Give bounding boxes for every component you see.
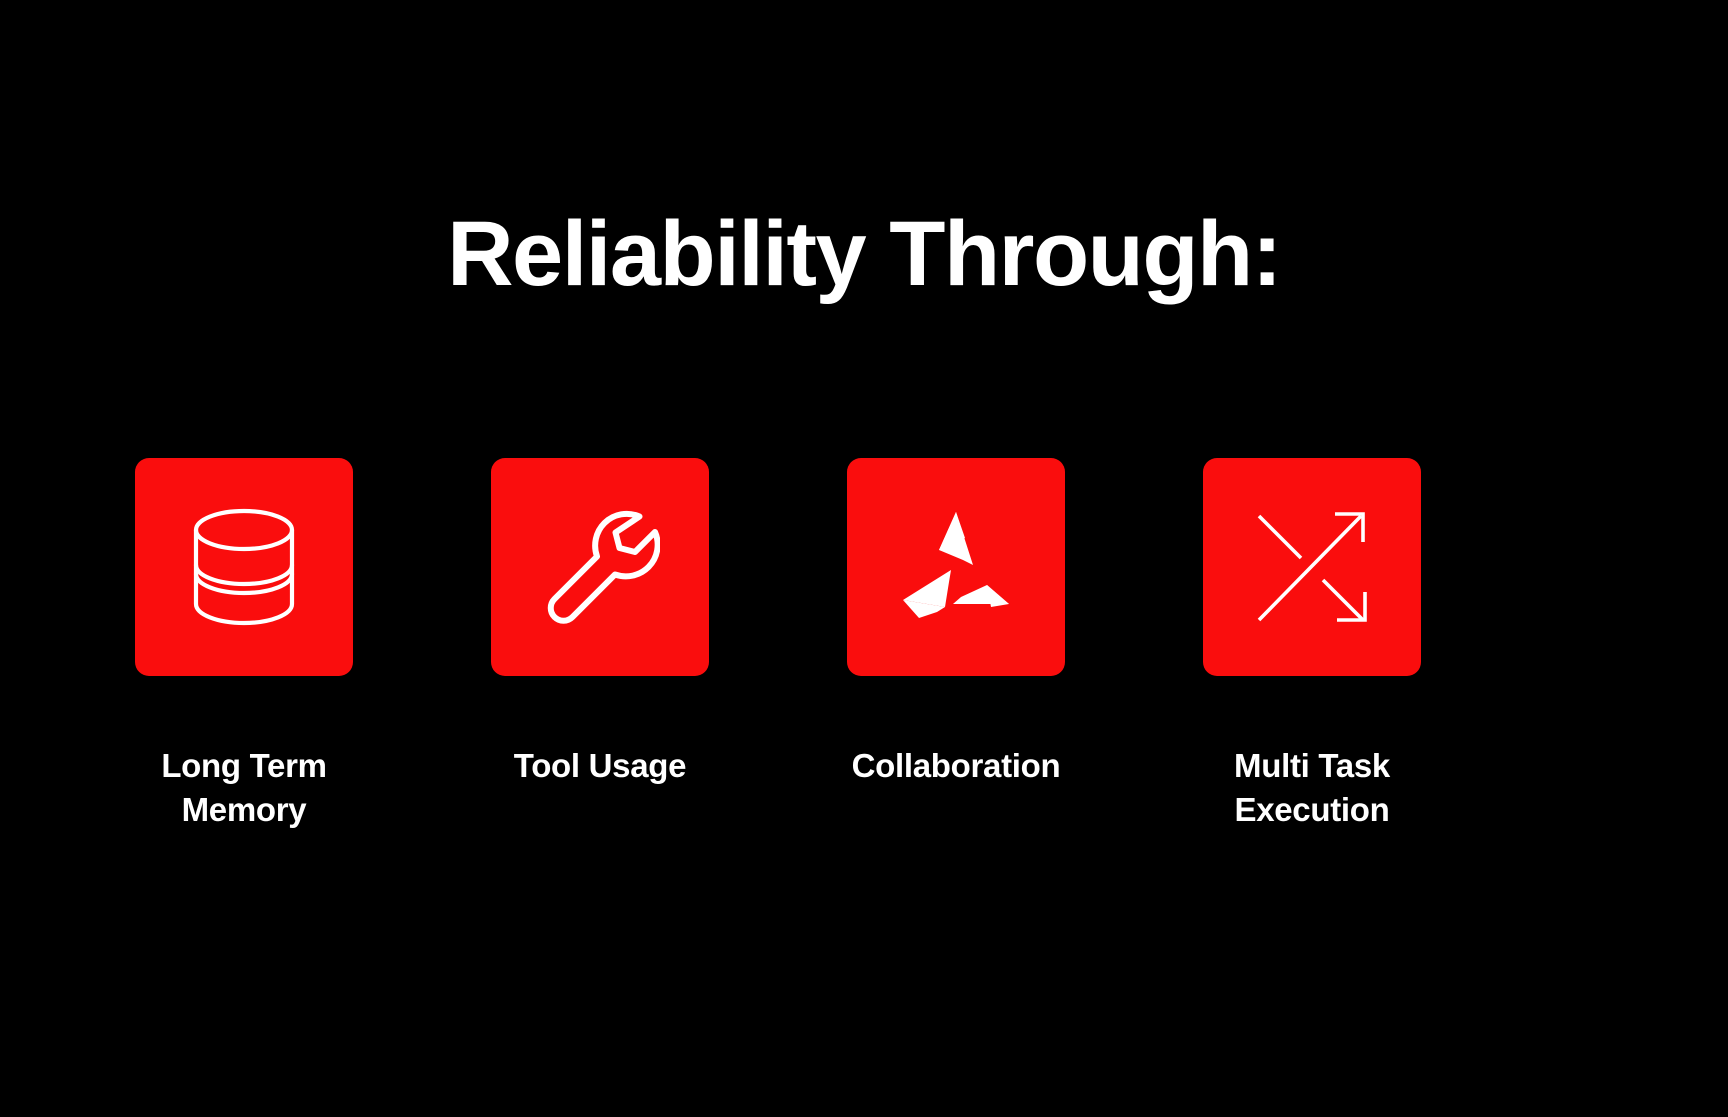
database-icon [189,508,299,626]
feature-card-tool-usage[interactable]: Tool Usage [491,458,709,832]
icon-tile-tool-usage[interactable] [491,458,709,676]
feature-card-label: Collaboration [852,744,1061,788]
feature-card-label: Long Term Memory [161,744,326,832]
feature-card-label: Multi Task Execution [1234,744,1390,832]
feature-card-long-term-memory[interactable]: Long Term Memory [135,458,353,832]
shuffle-arrows-icon [1253,508,1371,626]
page-title: Reliability Through: [0,206,1728,303]
wrench-icon [540,507,660,627]
feature-card-label: Tool Usage [514,744,686,788]
icon-tile-long-term-memory[interactable] [135,458,353,676]
recycle-arrows-icon [895,508,1017,626]
feature-card-collaboration[interactable]: Collaboration [847,458,1065,832]
feature-card-multi-task-execution[interactable]: Multi Task Execution [1203,458,1421,832]
icon-tile-collaboration[interactable] [847,458,1065,676]
feature-card-row: Long Term Memory Tool Usage [135,458,1593,832]
icon-tile-multi-task-execution[interactable] [1203,458,1421,676]
slide-root: Reliability Through: Long Term Memory [0,0,1728,1117]
